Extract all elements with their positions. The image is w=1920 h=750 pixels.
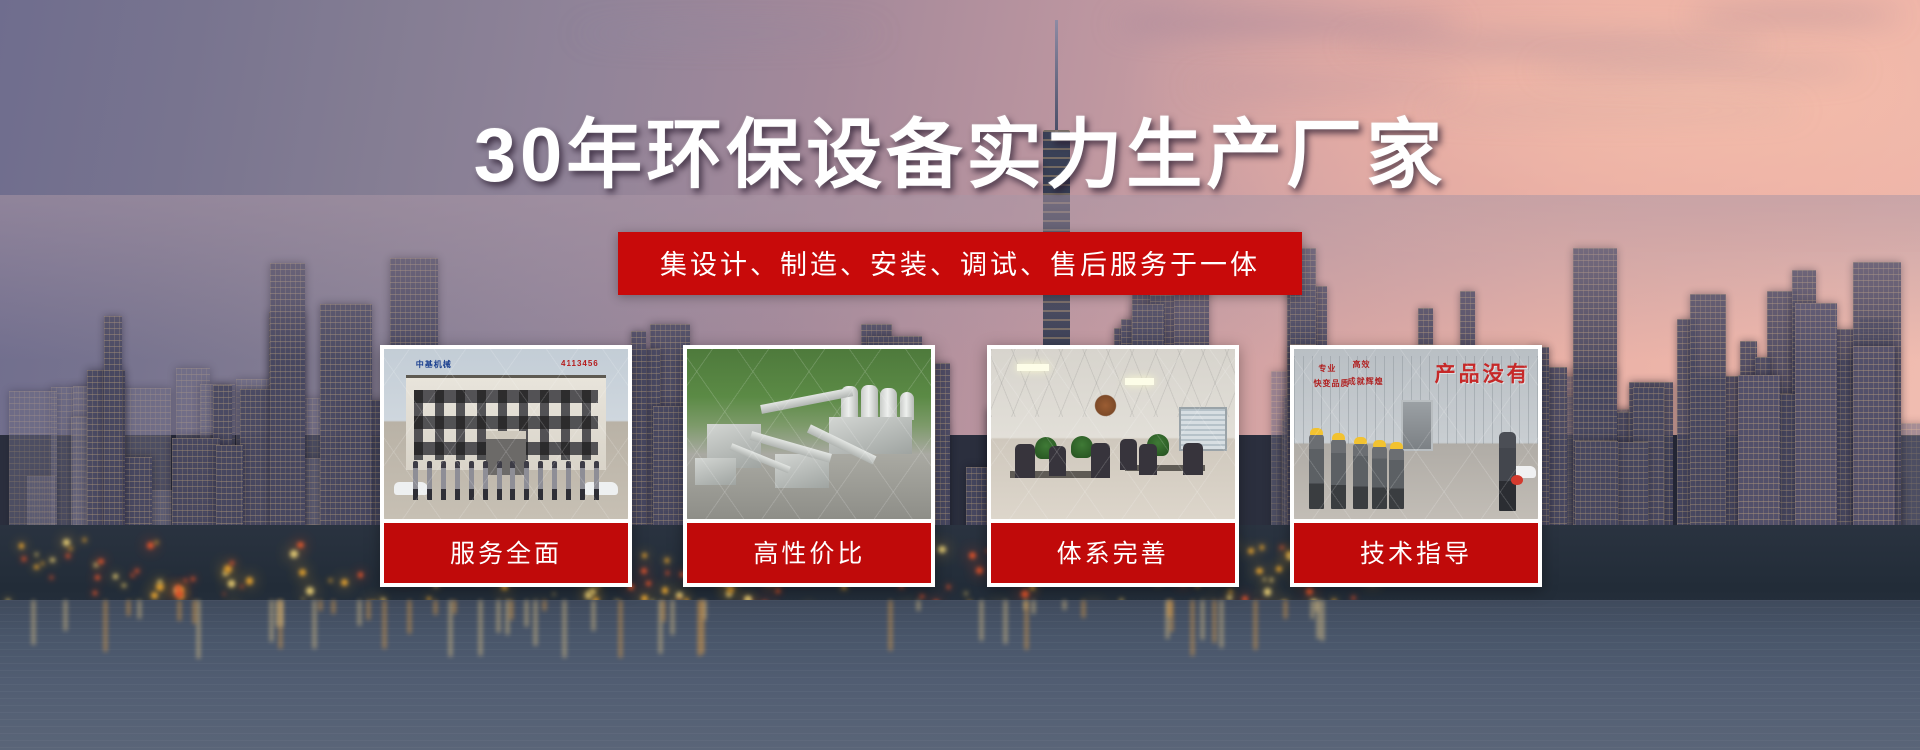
factory-door [1401, 400, 1433, 451]
water-reflection [332, 600, 335, 614]
bank-light [41, 562, 44, 565]
plant-building [695, 458, 736, 485]
bank-light [184, 579, 187, 582]
bank-light [776, 589, 780, 593]
cloud [576, 26, 883, 41]
water-reflection [1317, 600, 1320, 639]
river-water [0, 600, 1920, 750]
bank-light [34, 565, 39, 570]
bank-light [329, 579, 332, 582]
water-reflection [1201, 600, 1204, 640]
bank-light [1306, 588, 1313, 595]
bank-light [965, 592, 968, 595]
water-reflection [383, 600, 386, 649]
building [270, 263, 306, 555]
water-reflection [449, 600, 452, 657]
water-reflection [319, 600, 322, 611]
water-reflection [659, 600, 662, 654]
red-helmet [1511, 475, 1523, 485]
water-reflection [698, 600, 701, 656]
water-reflection [197, 600, 200, 659]
card-caption: 服务全面 [384, 523, 628, 583]
water-reflection [671, 600, 674, 635]
card-caption: 高性价比 [687, 523, 931, 583]
water-reflection [497, 600, 500, 633]
bank-light [290, 550, 298, 558]
office-worker [1091, 443, 1111, 479]
card-photo-factory: 产品没有 专业 高效 快变品质 成就辉煌 [1294, 349, 1538, 519]
bank-light [175, 590, 183, 598]
water-reflection [1191, 600, 1194, 656]
bank-light [228, 580, 235, 587]
bank-light [95, 575, 100, 580]
bank-light [224, 565, 232, 573]
bank-light [98, 559, 104, 565]
feature-card[interactable]: 高性价比 [683, 345, 935, 587]
bank-light [22, 557, 25, 560]
bank-light [1264, 588, 1271, 595]
card-photo-plant [687, 349, 931, 519]
water-reflection [367, 600, 370, 620]
bank-light [553, 593, 556, 596]
card-photo-office [991, 349, 1235, 519]
feature-card[interactable]: 体系完善 [987, 345, 1239, 587]
water-reflection [127, 600, 130, 616]
bank-light [1227, 595, 1232, 600]
building [104, 316, 121, 555]
factory-worker [1372, 446, 1387, 509]
bank-light [191, 577, 195, 581]
ceiling-light [1017, 364, 1049, 371]
water-reflection [434, 600, 437, 615]
water-reflection [1166, 600, 1169, 639]
bank-light [35, 553, 38, 556]
water-reflection [276, 600, 279, 627]
factory-slogan-small: 高效 [1353, 359, 1371, 370]
bank-light [230, 561, 235, 566]
bank-light [585, 591, 592, 598]
feature-card[interactable]: 产品没有 专业 高效 快变品质 成就辉煌 技术指导 [1290, 345, 1542, 587]
water-reflection [662, 600, 665, 622]
water-reflection [1024, 600, 1027, 610]
water-reflection [1082, 600, 1085, 618]
water-reflection [543, 600, 546, 611]
water-reflection [178, 600, 181, 621]
water-reflection [980, 600, 983, 641]
water-reflection [525, 600, 528, 627]
water-reflection [1220, 600, 1223, 648]
bank-light [223, 593, 225, 595]
bank-light [1021, 590, 1029, 598]
bank-light [920, 595, 924, 599]
water-reflection [358, 600, 361, 626]
office-worker [1139, 444, 1156, 475]
water-reflection [701, 600, 704, 654]
water-reflection [479, 600, 482, 656]
water-reflection [506, 600, 509, 635]
bank-light [63, 539, 69, 545]
bank-light [66, 554, 70, 558]
factory-slogan-large: 产品没有 [1435, 358, 1531, 388]
water-reflection [453, 600, 456, 614]
water-reflection [889, 600, 892, 651]
water-reflection [270, 600, 273, 642]
feature-card-list: 中基机械 4113456 服务全面 [380, 345, 1542, 587]
card-caption: 体系完善 [991, 523, 1235, 583]
factory-worker [1331, 439, 1346, 509]
bank-light [151, 592, 158, 599]
water-reflection [193, 600, 196, 624]
hero-banner: 30年环保设备实力生产厂家 集设计、制造、安装、调试、售后服务于一体 中基机械 … [0, 0, 1920, 750]
factory-supervisor [1499, 432, 1516, 510]
office-worker [1049, 446, 1066, 477]
water-reflection [313, 600, 316, 649]
water-reflection [917, 600, 920, 611]
bank-light [69, 547, 72, 550]
water-reflection [563, 600, 566, 658]
bank-light [147, 542, 154, 549]
bank-light [306, 587, 314, 595]
water-reflection [408, 600, 411, 634]
bank-light [131, 574, 134, 577]
conveyor [760, 387, 853, 413]
subtitle-badge: 集设计、制造、安装、调试、售后服务于一体 [618, 232, 1302, 295]
water-reflection [1168, 600, 1171, 617]
office-plant [1071, 436, 1093, 458]
bank-light [1229, 590, 1233, 594]
building-sign-label: 中基机械 [416, 359, 452, 370]
water-reflection [1315, 600, 1318, 612]
bank-light [135, 569, 139, 573]
bank-light [158, 580, 162, 584]
bank-light [299, 569, 306, 576]
bank-light [94, 563, 98, 567]
water-reflection [1321, 600, 1324, 641]
water-reflection [619, 600, 622, 658]
office-worker [1183, 443, 1203, 475]
bank-light [113, 574, 118, 579]
building [1690, 294, 1726, 555]
card-caption: 技术指导 [1294, 523, 1538, 583]
bank-light [297, 542, 304, 549]
bank-light [662, 587, 669, 594]
water-reflection [510, 600, 513, 620]
bank-light [156, 583, 164, 591]
bank-light [83, 538, 87, 542]
bank-light [155, 541, 158, 544]
water-reflection [1311, 600, 1314, 619]
bank-light [93, 591, 97, 595]
water-reflection [534, 600, 537, 646]
wall-emblem [1093, 392, 1117, 419]
building [1795, 303, 1837, 555]
water-reflection [64, 600, 67, 631]
bank-light [246, 577, 254, 585]
water-reflection [138, 600, 141, 619]
water-reflection [279, 600, 282, 649]
building [320, 304, 372, 555]
factory-slogan-small: 专业 [1318, 363, 1336, 374]
water-reflection [1254, 600, 1257, 650]
bank-light [358, 572, 364, 578]
bank-light [50, 576, 53, 579]
water-reflection [1284, 600, 1287, 619]
water-reflection [1213, 600, 1216, 643]
bank-light [122, 584, 126, 588]
water-reflection [703, 600, 706, 620]
bank-light [50, 558, 55, 563]
water-reflection [1063, 600, 1066, 610]
factory-worker [1353, 443, 1368, 509]
subtitle-container: 集设计、制造、安装、调试、售后服务于一体 [0, 232, 1920, 295]
office-worker [1120, 439, 1137, 470]
water-reflection [1032, 600, 1035, 614]
building [1853, 346, 1895, 555]
factory-worker [1309, 434, 1324, 509]
water-reflection [592, 600, 595, 631]
water-reflection [1025, 600, 1028, 650]
feature-card[interactable]: 中基机械 4113456 服务全面 [380, 345, 632, 587]
bank-light [241, 585, 243, 587]
silo [880, 388, 897, 420]
card-photo-building: 中基机械 4113456 [384, 349, 628, 519]
water-reflection [1170, 600, 1173, 632]
bank-light [341, 579, 348, 586]
water-reflection [104, 600, 107, 652]
factory-slogan-small: 成就辉煌 [1348, 376, 1384, 387]
water-reflection [1004, 600, 1007, 644]
bank-light [19, 543, 25, 549]
ceiling-light [1125, 378, 1154, 385]
building-phone-label: 4113456 [561, 359, 599, 368]
office-worker [1015, 444, 1035, 478]
water-reflection [32, 600, 35, 645]
staff-row [413, 461, 598, 500]
factory-slogan-small: 快变品质 [1314, 378, 1350, 389]
factory-worker [1389, 448, 1404, 509]
water-reflection [280, 600, 283, 627]
page-title: 30年环保设备实力生产厂家 [0, 118, 1920, 194]
silo [861, 385, 878, 421]
